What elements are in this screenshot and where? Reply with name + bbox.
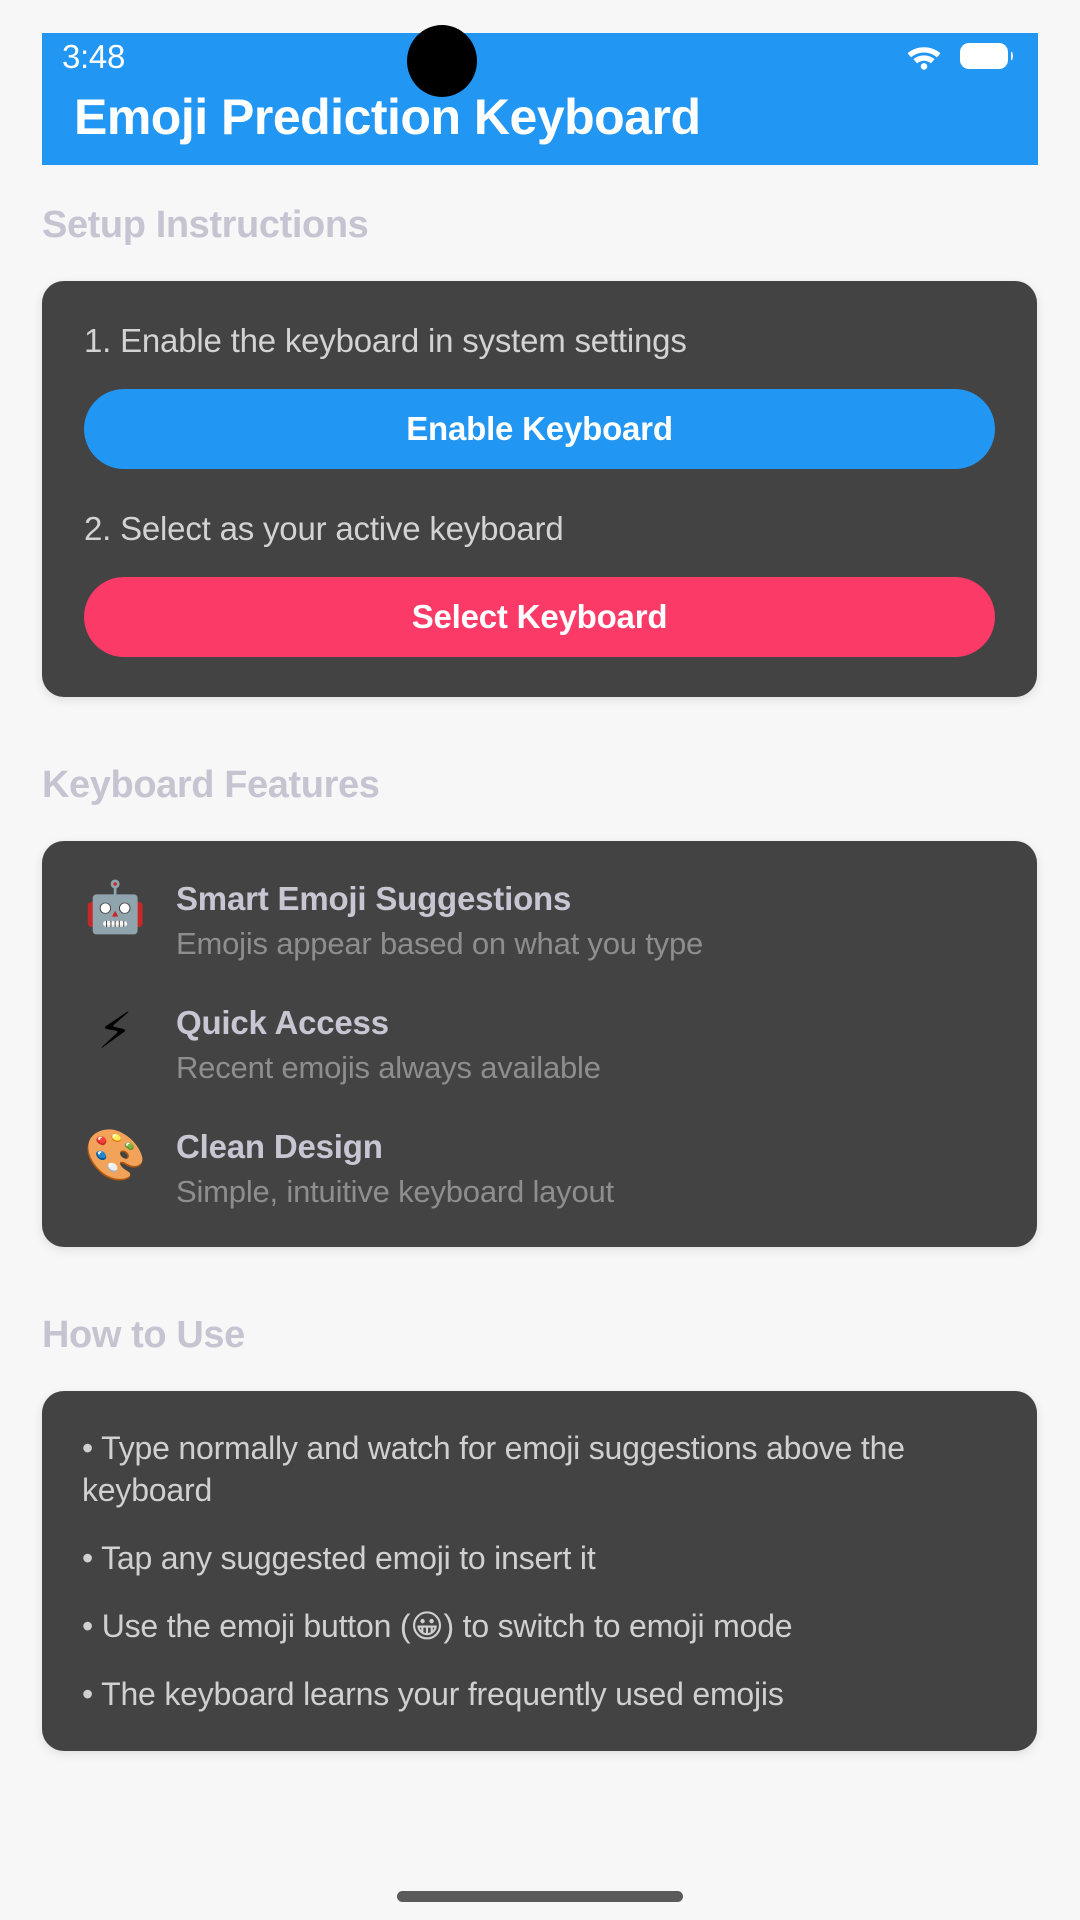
feature-row-quick-access: ⚡ Quick Access Recent emojis always avai… xyxy=(84,999,995,1089)
wifi-icon xyxy=(904,41,944,71)
high-voltage-emoji-icon: ⚡ xyxy=(84,999,146,1063)
battery-full-icon xyxy=(960,41,1016,71)
feature-title-clean-design: Clean Design xyxy=(176,1125,995,1169)
select-keyboard-button[interactable]: Select Keyboard xyxy=(84,577,995,657)
home-indicator[interactable] xyxy=(397,1891,683,1902)
keyboard-features-card: 🤖 Smart Emoji Suggestions Emojis appear … xyxy=(42,841,1037,1247)
status-bar-clock: 3:48 xyxy=(62,35,125,79)
robot-face-emoji-icon: 🤖 xyxy=(84,875,146,939)
setup-step-2: 2. Select as your active keyboard Select… xyxy=(84,505,995,657)
status-bar: 3:48 xyxy=(42,33,1038,83)
feature-description-smart-suggestions: Emojis appear based on what you type xyxy=(176,923,995,965)
app-header-bar: 3:48 Emoji Prediction Keyboard xyxy=(42,33,1038,165)
artist-palette-emoji-icon: 🎨 xyxy=(84,1123,146,1187)
how-to-use-item-1: • Type normally and watch for emoji sugg… xyxy=(82,1427,997,1511)
setup-step-1: 1. Enable the keyboard in system setting… xyxy=(84,317,995,469)
section-title-how-to-use: How to Use xyxy=(42,1311,1080,1359)
how-to-use-item-2: • Tap any suggested emoji to insert it xyxy=(82,1537,997,1579)
enable-keyboard-button[interactable]: Enable Keyboard xyxy=(84,389,995,469)
feature-title-smart-suggestions: Smart Emoji Suggestions xyxy=(176,877,995,921)
camera-notch xyxy=(407,25,477,97)
feature-row-smart-suggestions: 🤖 Smart Emoji Suggestions Emojis appear … xyxy=(84,875,995,965)
feature-description-clean-design: Simple, intuitive keyboard layout xyxy=(176,1171,995,1213)
how-to-use-card: • Type normally and watch for emoji sugg… xyxy=(42,1391,1037,1751)
setup-step-2-label: 2. Select as your active keyboard xyxy=(84,505,995,553)
page-title: Emoji Prediction Keyboard xyxy=(74,81,701,153)
how-to-use-item-4: • The keyboard learns your frequently us… xyxy=(82,1673,997,1715)
section-title-setup: Setup Instructions xyxy=(42,201,1080,249)
how-to-use-item-3: • Use the emoji button (😀) to switch to … xyxy=(82,1605,997,1647)
status-bar-indicators xyxy=(904,41,1016,71)
setup-instructions-card: 1. Enable the keyboard in system setting… xyxy=(42,281,1037,697)
feature-title-quick-access: Quick Access xyxy=(176,1001,995,1045)
section-title-features: Keyboard Features xyxy=(42,761,1080,809)
setup-step-1-label: 1. Enable the keyboard in system setting… xyxy=(84,317,995,365)
scroll-content[interactable]: Setup Instructions 1. Enable the keyboar… xyxy=(0,165,1080,1751)
feature-description-quick-access: Recent emojis always available xyxy=(176,1047,995,1089)
feature-row-clean-design: 🎨 Clean Design Simple, intuitive keyboar… xyxy=(84,1123,995,1213)
